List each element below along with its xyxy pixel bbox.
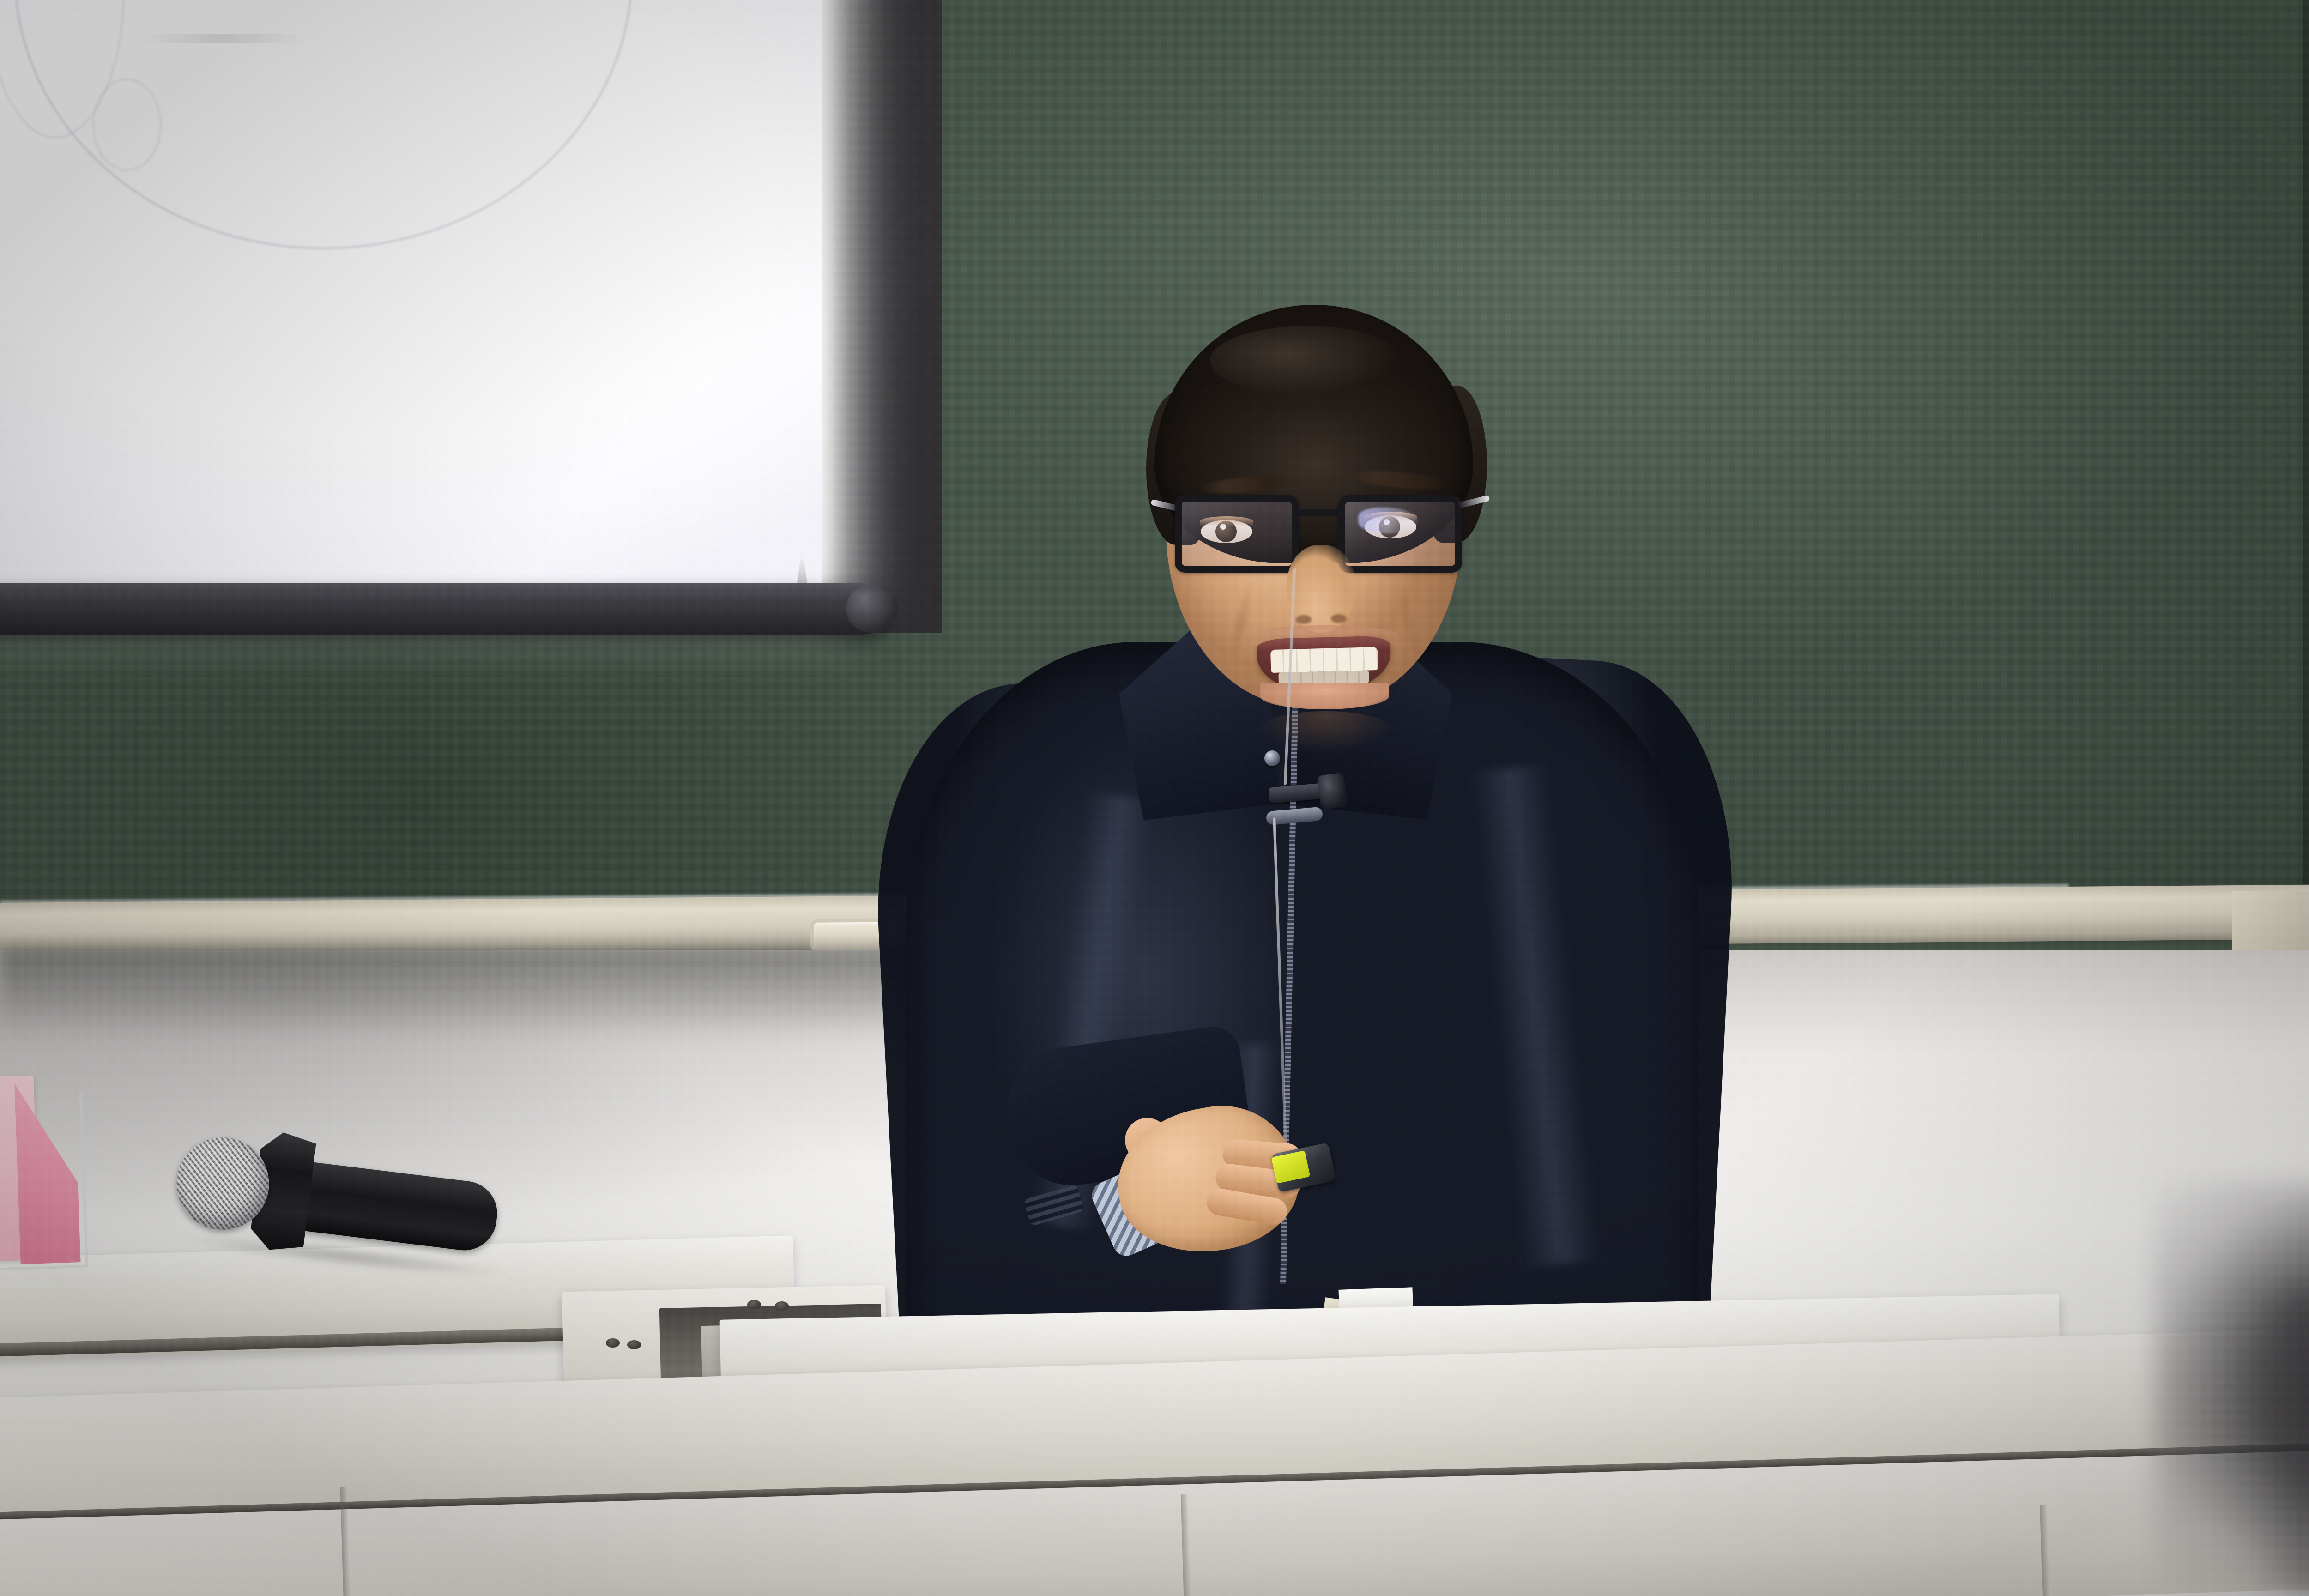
- chin-shadow: [1256, 711, 1395, 753]
- photograph-canvas: 一: [0, 0, 2309, 1596]
- cabinet-screw: [606, 1338, 620, 1348]
- projection-screen-roller-bar: [0, 583, 889, 635]
- foreground-blurred-object-edge: [2246, 1293, 2309, 1596]
- eyeglasses-lens-right: [1338, 495, 1462, 573]
- lower-lip: [1260, 683, 1389, 709]
- projection-screen: [0, 0, 942, 679]
- teeth-upper: [1270, 647, 1378, 673]
- chalkboard-frame-shadow: [2303, 0, 2309, 961]
- microphone-highlight: [139, 34, 305, 43]
- projection-screen-end-cap: [846, 585, 898, 633]
- tent-card-acrylic-holder: [0, 1069, 88, 1273]
- lavalier-microphone: [1317, 772, 1348, 810]
- cabinet-screw: [627, 1340, 641, 1349]
- projection-screen-surface: [0, 0, 822, 584]
- table-tent-card: 一: [0, 1074, 91, 1277]
- jacket-snap-button: [1264, 750, 1280, 766]
- cabinet-screw: [775, 1301, 789, 1311]
- nostril-right: [1331, 614, 1347, 623]
- nostril-left: [1296, 615, 1312, 624]
- screen-ghost-circle-small: [92, 79, 162, 171]
- eyeglasses-bridge: [1297, 509, 1341, 516]
- presenter: [905, 296, 1699, 1478]
- microphone-handle: [300, 1161, 501, 1254]
- eyeglasses-lens-left: [1175, 495, 1299, 573]
- cabinet-screw: [747, 1300, 761, 1309]
